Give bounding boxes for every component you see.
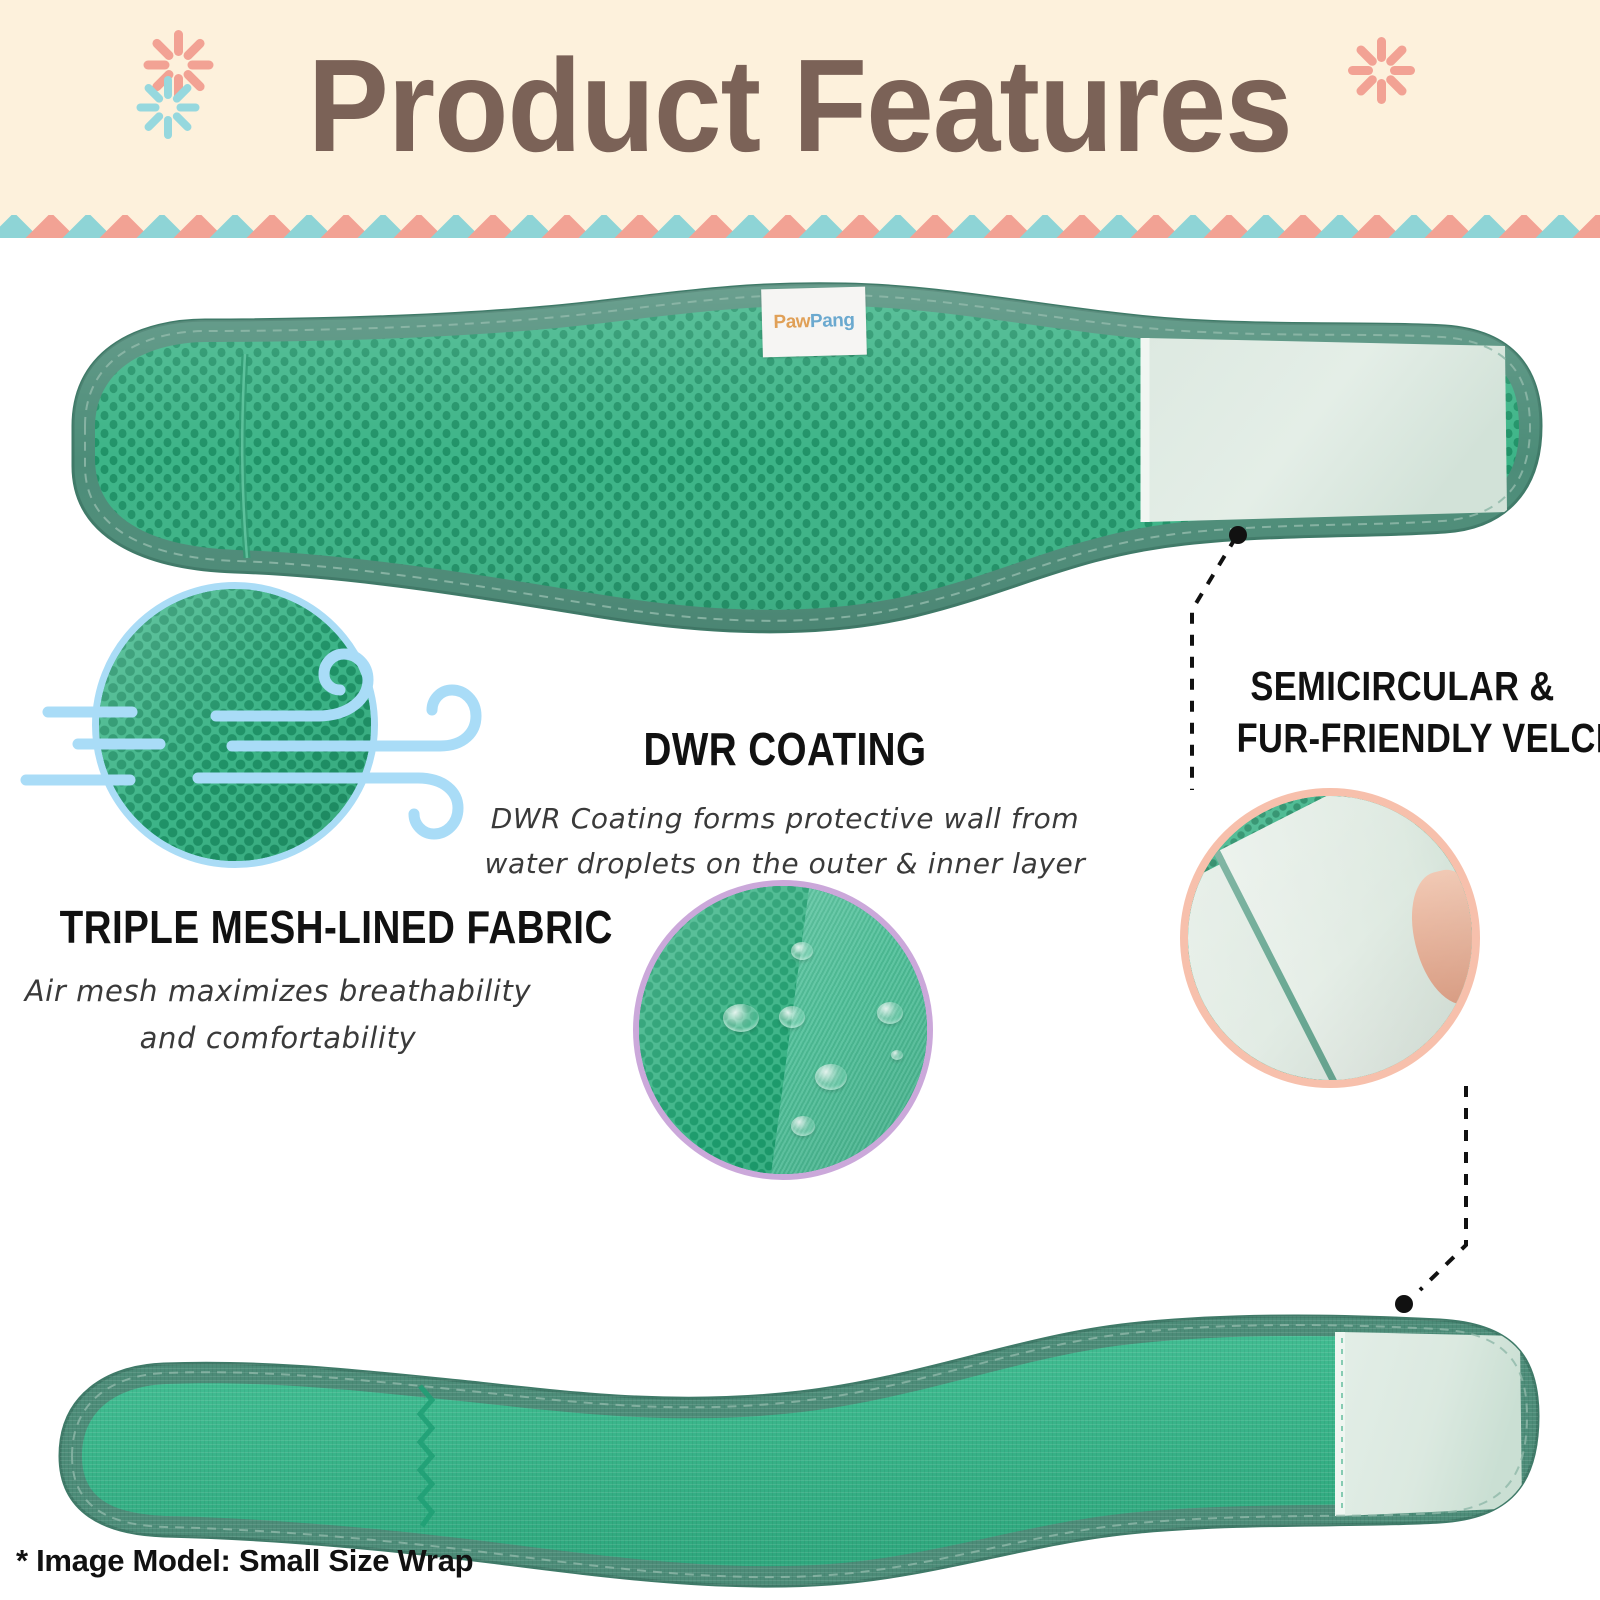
feature-body-line-2: and comfortability: [18, 1015, 538, 1062]
callout-circle-dwr: [633, 880, 933, 1180]
bottom-wrap-velcro-patch: [1340, 1332, 1522, 1516]
sparkle-blue-left-icon: [134, 62, 202, 130]
callout-circle-velcro: [1180, 788, 1480, 1088]
page-title: Product Features: [308, 40, 1292, 172]
feature-heading-velcro-line-1: SEMICIRCULAR &: [1237, 660, 1569, 712]
brand-label-paw: Paw: [773, 311, 810, 333]
divider-white-underlay: [0, 238, 1600, 261]
feature-body-dwr: DWR Coating forms protective wall from w…: [480, 796, 1090, 887]
brand-label-pang: Pang: [810, 310, 855, 332]
sparkle-pink-right-icon: [1345, 22, 1417, 94]
footnote-text: * Image Model: Small Size Wrap: [16, 1543, 473, 1579]
feature-block-velcro: SEMICIRCULAR & FUR-FRIENDLY VELCRO: [1205, 660, 1600, 765]
mesh-sheen: [99, 589, 371, 861]
velcro-sheen: [1188, 796, 1472, 1080]
callout-circle-mesh: [92, 582, 378, 868]
feature-heading-velcro-line-2: FUR-FRIENDLY VELCRO: [1237, 712, 1569, 764]
feature-block-triple-mesh: TRIPLE MESH-LINED FABRIC Air mesh maximi…: [18, 900, 538, 1062]
feature-body-triple-mesh: Air mesh maximizes breathability and com…: [18, 968, 538, 1062]
feature-body-line-1: DWR Coating forms protective wall from: [480, 796, 1090, 841]
feature-heading-triple-mesh: TRIPLE MESH-LINED FABRIC: [60, 900, 497, 954]
bottom-wrap-illustration: [40, 1156, 1560, 1596]
feature-body-line-1: Air mesh maximizes breathability: [18, 968, 538, 1015]
top-wrap-velcro-patch: [1145, 338, 1507, 522]
brand-label-tag: PawPang: [761, 287, 867, 358]
feature-block-dwr: DWR COATING DWR Coating forms protective…: [480, 722, 1090, 887]
feature-heading-dwr: DWR COATING: [529, 722, 1041, 776]
dwr-sheen: [639, 886, 927, 1174]
feature-body-line-2: water droplets on the outer & inner laye…: [480, 841, 1090, 886]
